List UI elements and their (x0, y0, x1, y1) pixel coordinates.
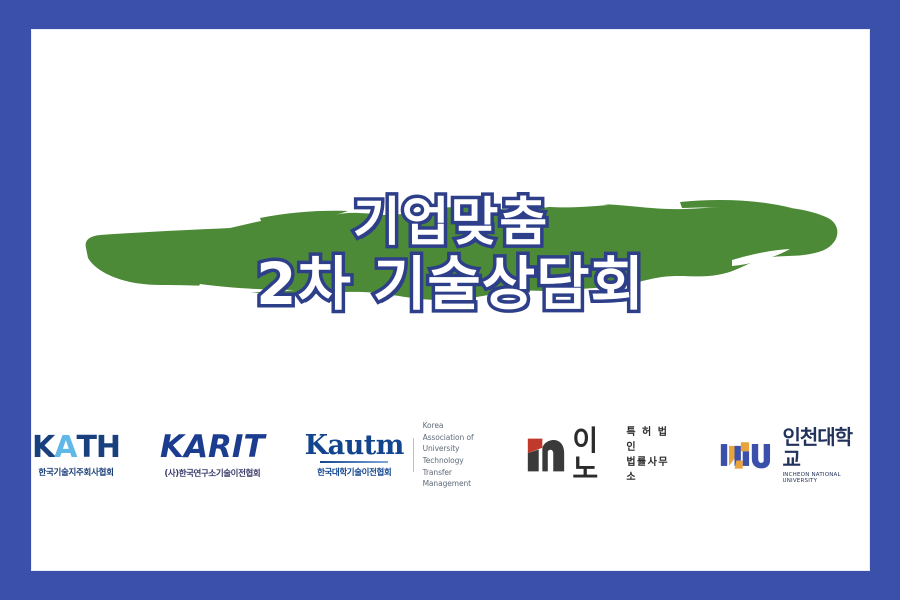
ino-subtitle: 특 허 법 인 법률사무소 (626, 425, 678, 485)
ino-mark-icon (526, 435, 566, 475)
inu-english-name: INCHEON NATIONAL UNIVERSITY (782, 472, 869, 484)
logo-kautm: Kautm 한국대학기술이전협회 Korea Association of Un… (305, 426, 487, 484)
karit-subtitle: (사)한국연구소기술이전협회 (164, 467, 260, 479)
hero-section: 기업맞춤 2차 기술상담회 (32, 160, 869, 350)
logo-karit: KARIT (사)한국연구소기술이전협회 (160, 426, 265, 484)
logo-ino: 이노 특 허 법 인 법률사무소 (526, 426, 678, 484)
karit-wordmark: KARIT (160, 432, 265, 463)
kath-letter-a: A (54, 433, 76, 463)
logo-kath: KATH 한국기술지주회사협회 (32, 426, 120, 484)
inu-mark-icon (719, 437, 774, 473)
poster-title-line-2: 2차 기술상담회 (256, 255, 645, 313)
kath-letter-k: K (32, 433, 54, 463)
kautm-english-line-3: Transfer Management (423, 467, 487, 490)
kath-subtitle: 한국기술지주회사협회 (38, 466, 113, 478)
ino-subtitle-line-2: 법률사무소 (626, 455, 678, 485)
kautm-wordmark: Kautm (305, 432, 404, 459)
ino-wordmark: 이노 (572, 427, 617, 483)
poster-card: 기업맞춤 2차 기술상담회 KATH 한국기술지주회사협회 KARIT (사)한 (32, 30, 869, 570)
poster-title-line-1: 기업맞춤 (353, 197, 548, 249)
kautm-english-name: Korea Association of University Technolo… (423, 420, 487, 490)
logo-inu: 인천대학교 INCHEON NATIONAL UNIVERSITY (719, 426, 869, 484)
ino-subtitle-line-1: 특 허 법 인 (626, 425, 678, 455)
partner-logo-row: KATH 한국기술지주회사협회 KARIT (사)한국연구소기술이전협회 Kau… (32, 415, 869, 495)
kath-letters-th: TH (76, 433, 120, 463)
poster-root: 기업맞춤 2차 기술상담회 KATH 한국기술지주회사협회 KARIT (사)한 (0, 0, 900, 600)
kautm-subtitle: 한국대학기술이전협회 (317, 466, 391, 478)
inu-wordmark: 인천대학교 (782, 426, 869, 470)
kautm-english-line-2: University Technology (423, 443, 487, 466)
kath-wordmark: KATH (32, 433, 120, 463)
kautm-underline-rule (320, 461, 388, 463)
kautm-english-line-1: Korea Association of (423, 420, 487, 443)
poster-title-block: 기업맞춤 2차 기술상담회 (32, 160, 869, 350)
kautm-divider (413, 438, 414, 472)
